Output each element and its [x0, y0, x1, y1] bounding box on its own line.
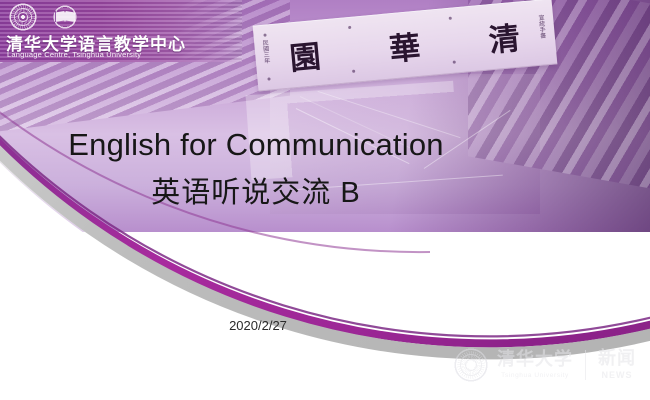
plaque-char-qing: 清: [487, 12, 523, 60]
presentation-slide: 園 華 清 民國三年 宣統手書 清华大学语言教学中心 Language Cent…: [0, 0, 650, 400]
watermark-news: 新闻 NEWS: [598, 350, 636, 380]
tsinghua-seal-icon: [8, 2, 38, 32]
logo-emblems: [8, 2, 80, 32]
title-block: English for Communication 英语听说交流 B: [0, 128, 512, 210]
slide-date: 2020/2/27: [0, 318, 516, 333]
plaque-char-yuan: 園: [287, 30, 323, 78]
watermark-university-en: Tsinghua University: [501, 372, 569, 379]
language-centre-logo-bar: 清华大学语言教学中心 Language Centre, Tsinghua Uni…: [0, 0, 242, 62]
plaque-inscription-right: 宣統手書: [536, 14, 545, 39]
title-chinese: 英语听说交流 B: [0, 177, 512, 210]
watermark-news-cn: 新闻: [598, 350, 636, 368]
plaque-inscription-left: 民國三年: [260, 40, 269, 65]
tsinghua-seal-watermark-icon: [454, 348, 488, 382]
title-english: English for Communication: [0, 128, 512, 163]
watermark-divider: [585, 350, 586, 380]
watermark-news-en: NEWS: [602, 370, 633, 380]
watermark-university: 清华大学 Tsinghua University: [497, 351, 573, 379]
logo-name-en: Language Centre, Tsinghua University: [7, 50, 141, 59]
open-book-icon: [50, 2, 80, 32]
watermark-university-cn: 清华大学: [497, 351, 573, 369]
plaque-char-hua: 華: [387, 21, 423, 69]
tsinghua-news-watermark: 清华大学 Tsinghua University 新闻 NEWS: [454, 348, 636, 382]
